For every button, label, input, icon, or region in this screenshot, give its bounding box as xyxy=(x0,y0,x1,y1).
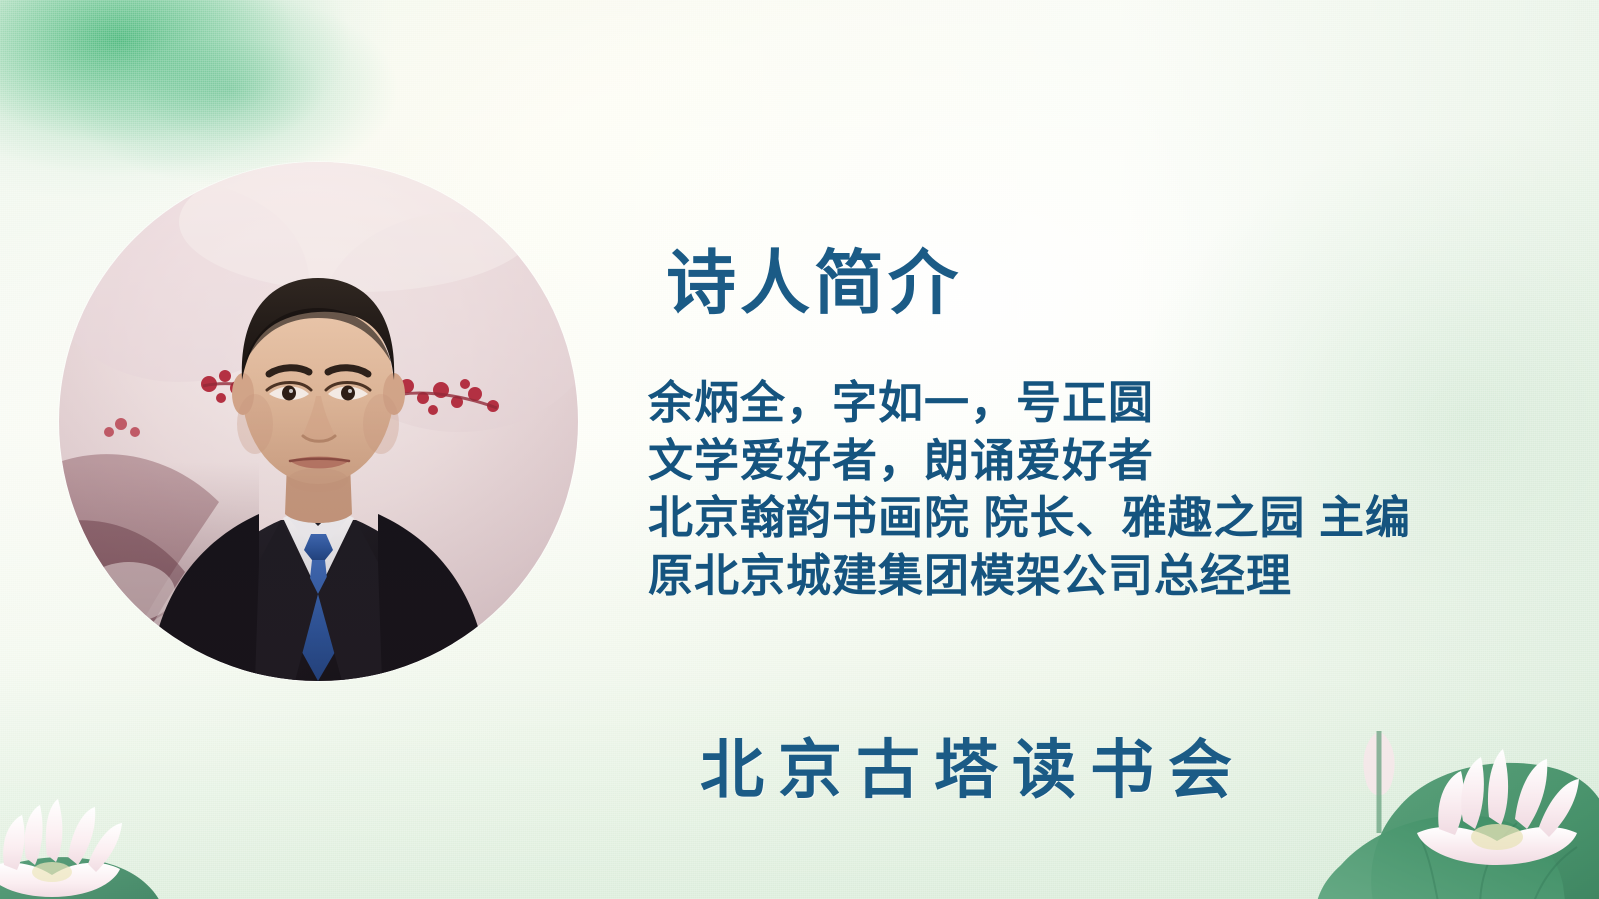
organization-name: 北京古塔读书会 xyxy=(700,738,1246,802)
avatar xyxy=(59,162,578,681)
poster-canvas: 诗人简介 余炳全，字如一，号正圆 文学爱好者，朗诵爱好者 北京翰韵书画院 院长、… xyxy=(0,0,1599,899)
portrait-photo xyxy=(59,162,578,681)
bio-line: 北京翰韵书画院 院长、雅趣之园 主编 xyxy=(648,489,1548,547)
bio-line: 余炳全，字如一，号正圆 xyxy=(648,374,1548,432)
lotus-flower-icon xyxy=(1281,657,1599,899)
bio-lines: 余炳全，字如一，号正圆 文学爱好者，朗诵爱好者 北京翰韵书画院 院长、雅趣之园 … xyxy=(648,374,1548,604)
bio-line: 原北京城建集团模架公司总经理 xyxy=(648,547,1548,605)
lotus-flower-icon xyxy=(0,765,176,899)
poet-profile-panel: 诗人简介 余炳全，字如一，号正圆 文学爱好者，朗诵爱好者 北京翰韵书画院 院长、… xyxy=(648,248,1548,604)
page-title: 诗人简介 xyxy=(666,248,1548,318)
bio-line: 文学爱好者，朗诵爱好者 xyxy=(648,432,1548,490)
